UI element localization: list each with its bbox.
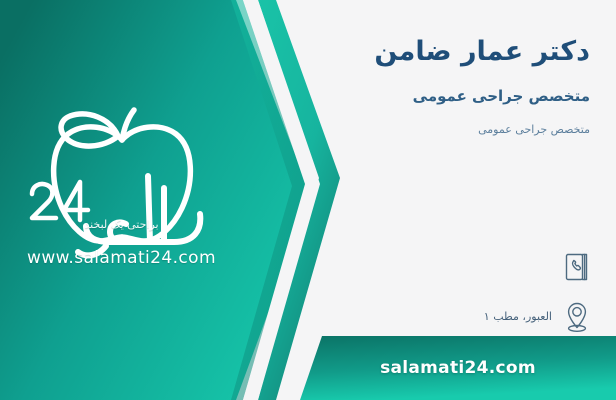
doctor-specialty-secondary: متخصص جراحی عمومی — [290, 122, 590, 137]
phone-contact-row[interactable] — [292, 248, 592, 286]
doctor-info-block: دکتر عمار ضامن متخصص جراحی عمومی متخصص ج… — [290, 34, 590, 138]
doctor-specialty: متخصص جراحی عمومی — [290, 86, 590, 107]
address-contact-label: العبور، مطب ۱ — [292, 309, 552, 324]
footer-bar[interactable]: salamati24.com — [300, 336, 616, 400]
logo-website-url[interactable]: www.salamati24.com — [14, 248, 229, 268]
doctor-profile-card: براحتی یک لبخند www.salamati24.com دکتر … — [0, 0, 616, 400]
location-pin-icon — [562, 300, 592, 334]
logo-tagline: براحتی یک لبخند — [14, 218, 229, 231]
footer-domain-label: salamati24.com — [300, 336, 616, 400]
contact-list: العبور، مطب ۱ — [292, 248, 592, 348]
phone-book-icon — [562, 250, 592, 284]
doctor-name: دکتر عمار ضامن — [290, 34, 590, 70]
address-contact-row[interactable]: العبور، مطب ۱ — [292, 298, 592, 336]
